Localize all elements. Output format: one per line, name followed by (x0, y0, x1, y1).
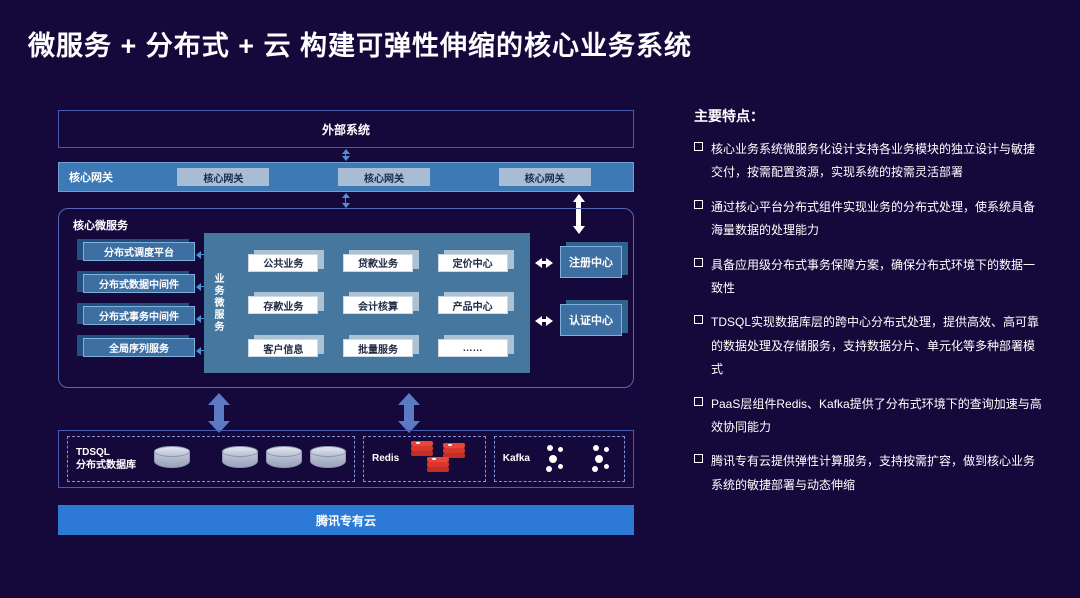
architecture-diagram: 外部系统 核心网关 核心网关 核心网关 核心网关 核心微服务 分布式调度平台 (58, 110, 634, 535)
feature-item: 核心业务系统微服务化设计支持各业务模块的独立设计与敏捷交付，按需配置资源，实现系… (694, 138, 1046, 185)
core-microservices-title: 核心微服务 (73, 217, 128, 233)
arrow-head-up-icon (573, 194, 585, 202)
business-service-cell[interactable]: …… (438, 335, 512, 356)
middleware-label: 分布式事务中间件 (83, 306, 195, 325)
checkbox-bullet-icon (694, 258, 703, 267)
connector-core-data-left (208, 393, 230, 433)
redis-label: Redis (372, 452, 399, 466)
business-service-label: …… (438, 339, 508, 357)
kafka-label: Kafka (503, 452, 530, 466)
tdsql-group[interactable]: TDSQL 分布式数据库 (67, 436, 355, 482)
arrow-shaft (214, 405, 224, 421)
feature-text: 核心业务系统微服务化设计支持各业务模块的独立设计与敏捷交付，按需配置资源，实现系… (711, 138, 1046, 185)
checkbox-bullet-icon (694, 454, 703, 463)
business-service-label: 会计核算 (343, 296, 413, 314)
checkbox-bullet-icon (694, 142, 703, 151)
data-layer-container: TDSQL 分布式数据库 Redis Kafka (58, 430, 634, 488)
checkbox-bullet-icon (694, 200, 703, 209)
business-service-cell[interactable]: 公共业务 (248, 250, 322, 271)
business-service-cell[interactable]: 客户信息 (248, 335, 322, 356)
tdsql-label: TDSQL 分布式数据库 (76, 446, 136, 473)
feature-text: 通过核心平台分布式组件实现业务的分布式处理，使系统具备海量数据的处理能力 (711, 196, 1046, 243)
business-service-label: 批量服务 (343, 339, 413, 357)
auth-center-label: 认证中心 (560, 304, 622, 336)
business-service-cell[interactable]: 产品中心 (438, 292, 512, 313)
core-gateway-band: 核心网关 核心网关 核心网关 核心网关 (58, 162, 634, 192)
feature-text: 腾讯专有云提供弹性计算服务，支持按需扩容，做到核心业务系统的敏捷部署与动态伸缩 (711, 450, 1046, 497)
database-cylinder-icon (154, 446, 190, 472)
feature-item: 腾讯专有云提供弹性计算服务，支持按需扩容，做到核心业务系统的敏捷部署与动态伸缩 (694, 450, 1046, 497)
gateway-chip[interactable]: 核心网关 (177, 168, 269, 186)
auth-center-card[interactable]: 认证中心 (560, 300, 628, 336)
arrow-head-right-icon (546, 258, 553, 268)
middleware-label: 分布式调度平台 (83, 242, 195, 261)
gateway-chip-list: 核心网关 核心网关 核心网关 (143, 168, 633, 186)
tdsql-label-line1: TDSQL (76, 446, 136, 460)
business-service-label: 公共业务 (248, 254, 318, 272)
feature-item: PaaS层组件Redis、Kafka提供了分布式环境下的查询加速与高效协同能力 (694, 393, 1046, 440)
business-service-label: 定价中心 (438, 254, 508, 272)
business-services-grid: 公共业务 贷款业务 定价中心 存款业务 会计核算 产品中心 客户信息 批量服务 … (230, 233, 530, 373)
arrow-head-up-icon (208, 393, 230, 405)
arrow-head-right-icon (546, 316, 553, 326)
middleware-item[interactable]: 分布式数据中间件 (77, 271, 197, 292)
database-cylinder-icon (310, 446, 346, 472)
core-microservices-container: 核心微服务 分布式调度平台 分布式数据中间件 分布式事务中间件 全局序列服务 (58, 208, 634, 388)
connector-core-data-right (398, 393, 420, 433)
tencent-private-cloud-label: 腾讯专有云 (316, 512, 376, 529)
business-panel-vertical-label: 业务微服务 (204, 233, 230, 373)
kafka-icon (590, 444, 616, 474)
registry-center-label: 注册中心 (560, 246, 622, 278)
feature-item: 通过核心平台分布式组件实现业务的分布式处理，使系统具备海量数据的处理能力 (694, 196, 1046, 243)
checkbox-bullet-icon (694, 397, 703, 406)
tdsql-label-line2: 分布式数据库 (76, 459, 136, 473)
external-systems-box: 外部系统 (58, 110, 634, 148)
external-systems-label: 外部系统 (322, 121, 370, 138)
middleware-label: 全局序列服务 (83, 338, 195, 357)
page-title: 微服务 + 分布式 + 云 构建可弹性伸缩的核心业务系统 (28, 24, 692, 63)
business-service-label: 存款业务 (248, 296, 318, 314)
database-cylinder-icon (266, 446, 302, 472)
business-service-cell[interactable]: 会计核算 (343, 292, 417, 313)
feature-item: 具备应用级分布式事务保障方案，确保分布式环境下的数据一致性 (694, 254, 1046, 301)
middleware-list: 分布式调度平台 分布式数据中间件 分布式事务中间件 全局序列服务 (77, 239, 197, 367)
gateway-chip[interactable]: 核心网关 (499, 168, 591, 186)
arrow-shaft (404, 405, 414, 421)
feature-text: TDSQL实现数据库层的跨中心分布式处理，提供高效、高可靠的数据处理及存储服务，… (711, 311, 1046, 381)
gateway-chip[interactable]: 核心网关 (338, 168, 430, 186)
arrow-head-left-icon (535, 316, 542, 326)
business-service-label: 客户信息 (248, 339, 318, 357)
redis-group[interactable]: Redis (363, 436, 486, 482)
middleware-item[interactable]: 分布式调度平台 (77, 239, 197, 260)
business-service-cell[interactable]: 存款业务 (248, 292, 322, 313)
business-service-cell[interactable]: 贷款业务 (343, 250, 417, 271)
tencent-private-cloud-bar[interactable]: 腾讯专有云 (58, 505, 634, 535)
connector-biz-registry (535, 257, 553, 268)
connector-gateway-core (341, 193, 350, 208)
connector-external-gateway (341, 149, 350, 161)
business-service-cell[interactable]: 批量服务 (343, 335, 417, 356)
core-gateway-label: 核心网关 (59, 169, 143, 185)
features-panel: 主要特点： 核心业务系统微服务化设计支持各业务模块的独立设计与敏捷交付，按需配置… (694, 106, 1046, 508)
middleware-item[interactable]: 分布式事务中间件 (77, 303, 197, 324)
features-title: 主要特点： (694, 106, 1046, 126)
feature-item: TDSQL实现数据库层的跨中心分布式处理，提供高效、高可靠的数据处理及存储服务，… (694, 311, 1046, 381)
business-service-label: 贷款业务 (343, 254, 413, 272)
arrow-head-left-icon (535, 258, 542, 268)
middleware-item[interactable]: 全局序列服务 (77, 335, 197, 356)
arrow-head-up-icon (398, 393, 420, 405)
business-service-label: 产品中心 (438, 296, 508, 314)
checkbox-bullet-icon (694, 315, 703, 324)
registry-center-card[interactable]: 注册中心 (560, 242, 628, 278)
kafka-group[interactable]: Kafka (494, 436, 625, 482)
kafka-icon (544, 444, 570, 474)
middleware-label: 分布式数据中间件 (83, 274, 195, 293)
redis-icon (407, 439, 469, 479)
database-cylinder-icon (222, 446, 258, 472)
business-service-cell[interactable]: 定价中心 (438, 250, 512, 271)
arrow-head-down-icon (342, 156, 350, 161)
feature-text: PaaS层组件Redis、Kafka提供了分布式环境下的查询加速与高效协同能力 (711, 393, 1046, 440)
connector-biz-auth (535, 315, 553, 326)
business-microservices-panel: 业务微服务 公共业务 贷款业务 定价中心 存款业务 会计核算 产品中心 客户信息… (204, 233, 530, 373)
feature-text: 具备应用级分布式事务保障方案，确保分布式环境下的数据一致性 (711, 254, 1046, 301)
